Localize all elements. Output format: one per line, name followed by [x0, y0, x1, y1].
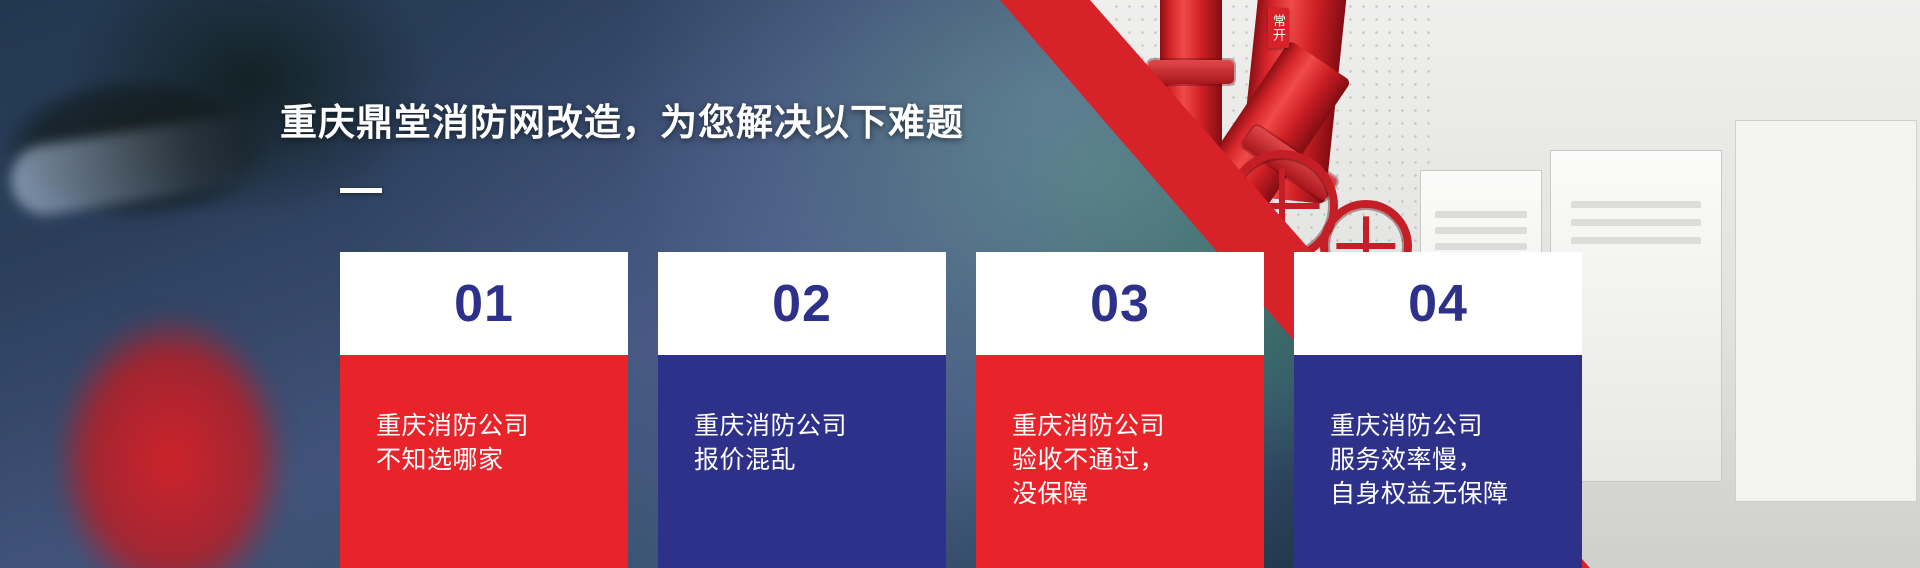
- card-text-3: 重庆消防公司 验收不通过， 没保障: [976, 355, 1264, 568]
- photo-wall-panel: [1735, 120, 1917, 502]
- card-text-4: 重庆消防公司 服务效率慢， 自身权益无保障: [1294, 355, 1582, 568]
- valve-tag-0: 常开: [1268, 8, 1289, 48]
- problem-card-3[interactable]: 03 重庆消防公司 验收不通过， 没保障: [976, 252, 1264, 568]
- card-number-2: 02: [658, 252, 946, 355]
- problem-card-2[interactable]: 02 重庆消防公司 报价混乱: [658, 252, 946, 568]
- problem-card-4[interactable]: 04 重庆消防公司 服务效率慢， 自身权益无保障: [1294, 252, 1582, 568]
- card-number-4: 04: [1294, 252, 1582, 355]
- title-underline-dash: [340, 188, 382, 193]
- problem-card-list: 01 重庆消防公司 不知选哪家 02 重庆消防公司 报价混乱 03 重庆消防公司…: [340, 252, 1590, 568]
- card-text-1: 重庆消防公司 不知选哪家: [340, 355, 628, 568]
- card-text-2: 重庆消防公司 报价混乱: [658, 355, 946, 568]
- problem-card-1[interactable]: 01 重庆消防公司 不知选哪家: [340, 252, 628, 568]
- photo-flange-1: [1148, 60, 1234, 84]
- card-number-1: 01: [340, 252, 628, 355]
- card-number-3: 03: [976, 252, 1264, 355]
- promo-banner: 常开 常闭 常闭 常开 重庆鼎堂消防网改造，为您解决以下难题 01 重庆消防公司…: [0, 0, 1920, 568]
- page-title: 重庆鼎堂消防网改造，为您解决以下难题: [280, 92, 964, 146]
